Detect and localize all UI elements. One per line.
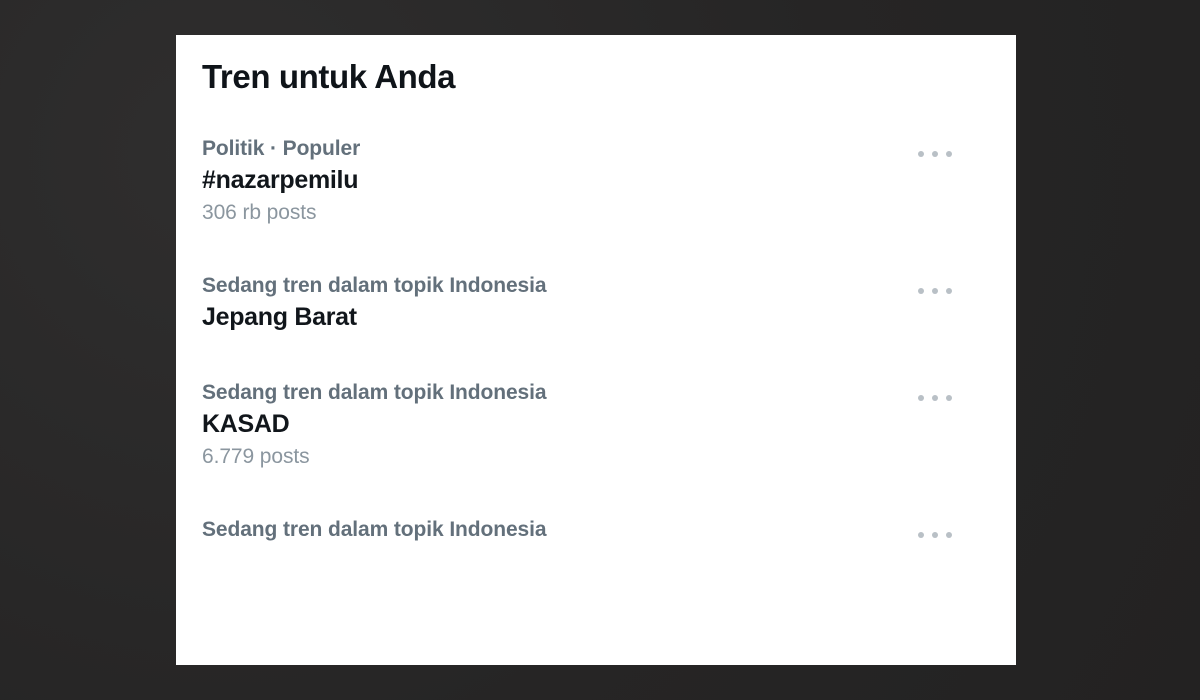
trend-post-count: 6.779 posts bbox=[202, 442, 990, 472]
more-options-icon[interactable] bbox=[918, 151, 952, 157]
page-title: Tren untuk Anda bbox=[202, 35, 990, 97]
dot-1 bbox=[918, 532, 924, 538]
trend-category-label: Sedang tren dalam topik Indonesia bbox=[202, 516, 990, 544]
trend-name[interactable]: KASAD bbox=[202, 407, 990, 442]
trend-post-count: 306 rb posts bbox=[202, 198, 990, 228]
dot-1 bbox=[918, 395, 924, 401]
dot-2 bbox=[932, 151, 938, 157]
more-options-icon[interactable] bbox=[918, 532, 952, 538]
dot-3 bbox=[946, 395, 952, 401]
list-item[interactable]: Politik · Populer #nazarpemilu 306 rb po… bbox=[202, 135, 990, 272]
trend-list: Politik · Populer #nazarpemilu 306 rb po… bbox=[202, 135, 990, 588]
dot-3 bbox=[946, 532, 952, 538]
trend-category-label: Sedang tren dalam topik Indonesia bbox=[202, 379, 990, 407]
dot-2 bbox=[932, 288, 938, 294]
dot-3 bbox=[946, 151, 952, 157]
list-item[interactable]: Sedang tren dalam topik Indonesia Jepang… bbox=[202, 272, 990, 379]
trend-name[interactable]: Jepang Barat bbox=[202, 300, 990, 335]
trends-panel: Tren untuk Anda Politik · Populer #nazar… bbox=[176, 35, 1016, 665]
trend-category-label: Politik · Populer bbox=[202, 135, 990, 163]
more-options-icon[interactable] bbox=[918, 395, 952, 401]
dot-1 bbox=[918, 288, 924, 294]
list-item[interactable]: Sedang tren dalam topik Indonesia bbox=[202, 516, 990, 588]
dot-1 bbox=[918, 151, 924, 157]
more-options-icon[interactable] bbox=[918, 288, 952, 294]
dot-2 bbox=[932, 532, 938, 538]
trend-name[interactable]: #nazarpemilu bbox=[202, 163, 990, 198]
dot-2 bbox=[932, 395, 938, 401]
list-item[interactable]: Sedang tren dalam topik Indonesia KASAD … bbox=[202, 379, 990, 516]
dot-3 bbox=[946, 288, 952, 294]
trend-category-label: Sedang tren dalam topik Indonesia bbox=[202, 272, 990, 300]
